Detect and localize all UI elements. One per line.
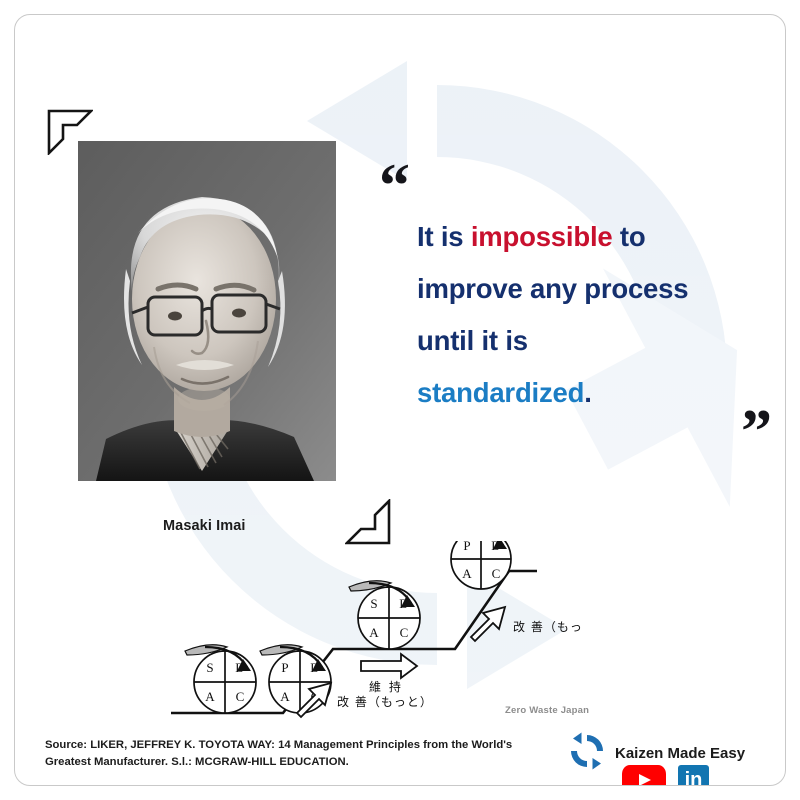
label-maintain: 維 持 [369, 679, 403, 694]
source-citation: Source: LIKER, JEFFREY K. TOYOTA WAY: 14… [45, 737, 545, 771]
quote-line-1-part-a: It is [417, 221, 471, 252]
quote-highlight-impossible: impossible [471, 221, 613, 252]
svg-text:A: A [205, 689, 215, 704]
svg-text:S: S [206, 660, 213, 675]
wheel-sdca-3: S D A C [349, 581, 420, 649]
quote-line-2: improve any process [417, 263, 767, 315]
svg-text:S: S [370, 596, 377, 611]
social-links-row: in [622, 765, 709, 786]
arrow-maintain [361, 654, 417, 678]
source-line-2: Greatest Manufacturer. S.l.: MCGRAW-HILL… [45, 754, 545, 771]
svg-text:C: C [400, 625, 409, 640]
diagram-source-caption: Zero Waste Japan [505, 705, 589, 716]
svg-text:C: C [236, 689, 245, 704]
quote-highlight-standardized: standardized [417, 377, 584, 408]
wheel-pdca-4: P D A C [441, 541, 511, 589]
quote-line-1-part-c: to [612, 221, 645, 252]
arrow-kaizen-upper [471, 607, 505, 641]
quote-text: It is impossible to improve any process … [417, 211, 767, 419]
pdca-sdca-staircase-diagram: S D A C P D A C [165, 541, 585, 721]
brand-name-label: Kaizen Made Easy [615, 745, 745, 762]
svg-text:A: A [369, 625, 379, 640]
svg-text:A: A [462, 566, 472, 581]
quote-open-mark-icon: “ [379, 155, 410, 217]
wheel-pdca-2: P D A C [260, 645, 331, 713]
portrait-photo [78, 141, 336, 481]
label-kaizen-lower: 改 善（もっと） [337, 694, 433, 709]
brand-block: Kaizen Made Easy in [567, 731, 767, 786]
linkedin-icon[interactable]: in [678, 765, 709, 786]
svg-text:P: P [281, 660, 288, 675]
label-kaizen-upper: 改 善（もっと） [513, 619, 585, 634]
source-line-1: Source: LIKER, JEFFREY K. TOYOTA WAY: 14… [45, 737, 545, 754]
quote-line-3: until it is [417, 315, 767, 367]
wheel-sdca-1: S D A C [185, 645, 256, 713]
svg-text:C: C [492, 566, 501, 581]
quote-poster-card: Masaki Imai “ It is impossible to improv… [14, 14, 786, 786]
quote-line-4-period: . [584, 377, 591, 408]
quote-close-mark-icon: ” [741, 401, 772, 463]
person-name-label: Masaki Imai [163, 518, 246, 534]
youtube-icon[interactable] [622, 765, 666, 786]
svg-text:P: P [463, 541, 470, 553]
quote-line-1: It is impossible to [417, 211, 767, 263]
kaizen-cycle-logo-icon [567, 731, 607, 776]
quote-line-4: standardized. [417, 367, 767, 419]
svg-text:A: A [280, 689, 290, 704]
